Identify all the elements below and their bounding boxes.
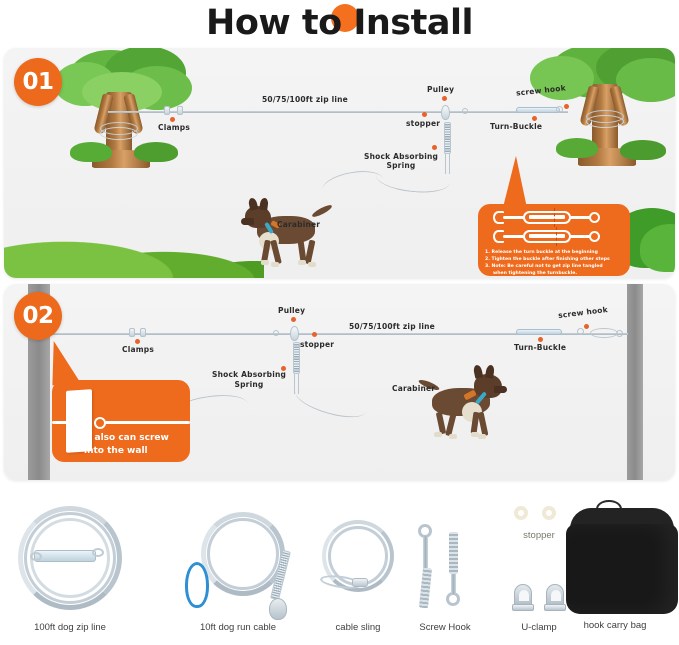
page-title-bar: How to Install	[0, 0, 679, 46]
marker-dot-pulley-01	[442, 96, 447, 101]
product-label-screw-hook: Screw Hook	[400, 622, 490, 633]
callout-step-3-cont: when tightening the turnbuckle.	[485, 270, 623, 277]
label-clamps-02: Clamps	[110, 345, 166, 354]
label-turnbuckle-01: Turn-Buckle	[490, 122, 542, 131]
turnbuckle-callout-01: 1. Release the turn buckle at the beginn…	[478, 204, 630, 276]
turnbuckle-icon-02	[516, 329, 562, 335]
label-clamps-01: Clamps	[146, 123, 202, 132]
carabiner-icon-product	[185, 562, 209, 608]
callout-tail-02	[48, 339, 80, 386]
marker-dot-screwhook-02	[584, 324, 589, 329]
stopper-ring-02a	[273, 330, 279, 336]
spring-stem-01	[445, 154, 450, 174]
product-run-cable: 10ft dog run cable	[165, 500, 325, 640]
u-clamp-base-a	[512, 604, 534, 611]
stopper-ring-01	[462, 108, 468, 114]
step-panel-01: Clamps 50/75/100ft zip line Pulley stopp…	[4, 48, 675, 278]
cable-loop-02	[590, 328, 618, 338]
screw-hook-thread-a	[419, 568, 432, 609]
label-stopper-01: stopper	[406, 119, 440, 128]
marker-dot-spring-01	[432, 145, 437, 150]
label-screw-hook-02: screw hook	[558, 305, 609, 320]
wall-callout-line-1: it also can screw	[84, 432, 169, 445]
product-zip-line: 100ft dog zip line	[8, 500, 168, 640]
turnbuckle-callout-steps: 1. Release the turn buckle at the beginn…	[478, 249, 630, 277]
label-stopper-02: stopper	[300, 340, 334, 349]
shock-absorbing-spring-01	[444, 122, 451, 154]
bag-body	[566, 524, 678, 614]
wall-post-right	[627, 284, 643, 480]
label-shock-spring-02-line2: Spring	[212, 380, 286, 389]
pulley-icon-02	[290, 326, 299, 341]
screw-hook-eye-01	[556, 106, 563, 113]
product-strip: 100ft dog zip line 10ft dog run cable ca…	[0, 492, 679, 645]
grass-bushes	[4, 206, 264, 278]
marker-dot-pulley-02	[291, 317, 296, 322]
label-carabiner-01: Carabiner	[277, 220, 320, 229]
wall-bolt-shaft-left	[52, 421, 72, 424]
wall-mount-callout-02: it also can screw into the wall	[52, 380, 190, 462]
marker-dot-clamps-02	[135, 339, 140, 344]
leash-line-01	[375, 162, 451, 196]
marker-dot-turnbuckle-01	[532, 116, 537, 121]
screw-hook-eye-02	[577, 328, 584, 335]
callout-step-2: 2. Tighten the buckle after finishing ot…	[485, 256, 623, 263]
u-clamp-icon-a	[514, 584, 532, 606]
screw-hook-thread-b	[449, 532, 458, 574]
label-pulley-02: Pulley	[278, 306, 305, 315]
wall-callout-line-2: into the wall	[84, 445, 148, 458]
label-pulley-01: Pulley	[427, 85, 454, 94]
clamp-icon-02b	[140, 328, 146, 337]
marker-dot-turnbuckle-02	[538, 337, 543, 342]
product-screw-hook: Screw Hook	[408, 514, 498, 640]
callout-step-1: 1. Release the turn buckle at the beginn…	[485, 249, 623, 256]
step-badge-02: 02	[14, 292, 62, 340]
clamp-icon-b	[177, 106, 183, 115]
label-shock-spring-01-line1: Shock Absorbing	[364, 152, 438, 161]
screw-hook-eye-bottom	[446, 592, 460, 606]
marker-dot-stopper-01	[422, 112, 427, 117]
label-zipline-01: 50/75/100ft zip line	[262, 95, 348, 104]
marker-dot-clamps	[170, 117, 175, 122]
callout-step-3: 3. Note: Be careful not to get zip line …	[485, 263, 623, 270]
page-title: How to Install	[206, 3, 473, 43]
stopper-ring-a	[514, 506, 528, 520]
product-label-run-cable: 10ft dog run cable	[158, 622, 318, 633]
label-turnbuckle-02: Turn-Buckle	[514, 343, 566, 352]
step-badge-01: 01	[14, 58, 62, 106]
marker-dot-stopper-02	[312, 332, 317, 337]
clamp-icon-a	[164, 106, 170, 115]
wall-cable-right	[105, 421, 190, 424]
product-carry-bag: hook carry bag	[556, 494, 679, 640]
product-label-zip-line: 100ft dog zip line	[0, 622, 150, 633]
step-panel-02: Clamps Pulley stopper Shock Absorbing Sp…	[4, 284, 675, 480]
how-to-install-infographic: How to Install	[0, 0, 679, 645]
label-zipline-02: 50/75/100ft zip line	[349, 322, 435, 331]
product-label-carry-bag: hook carry bag	[550, 620, 679, 631]
label-shock-spring-02-line1: Shock Absorbing	[212, 370, 286, 379]
tree-left	[48, 50, 208, 190]
marker-dot-screwhook-01	[564, 104, 569, 109]
pulley-icon-01	[441, 105, 450, 120]
stopper-ring-b	[542, 506, 556, 520]
shock-absorbing-spring-02	[293, 342, 300, 374]
turnbuckle-icon-01	[516, 107, 560, 113]
clamp-icon-02a	[129, 328, 135, 337]
dog-illustration-02	[416, 370, 508, 448]
turnbuckle-figure-open	[493, 209, 615, 226]
dog-illustration-01	[241, 198, 333, 276]
turnbuckle-figure-tight	[493, 228, 615, 245]
tree-right	[520, 48, 675, 194]
label-carabiner-02: Carabiner	[392, 384, 435, 393]
leash-line-02	[292, 378, 370, 423]
